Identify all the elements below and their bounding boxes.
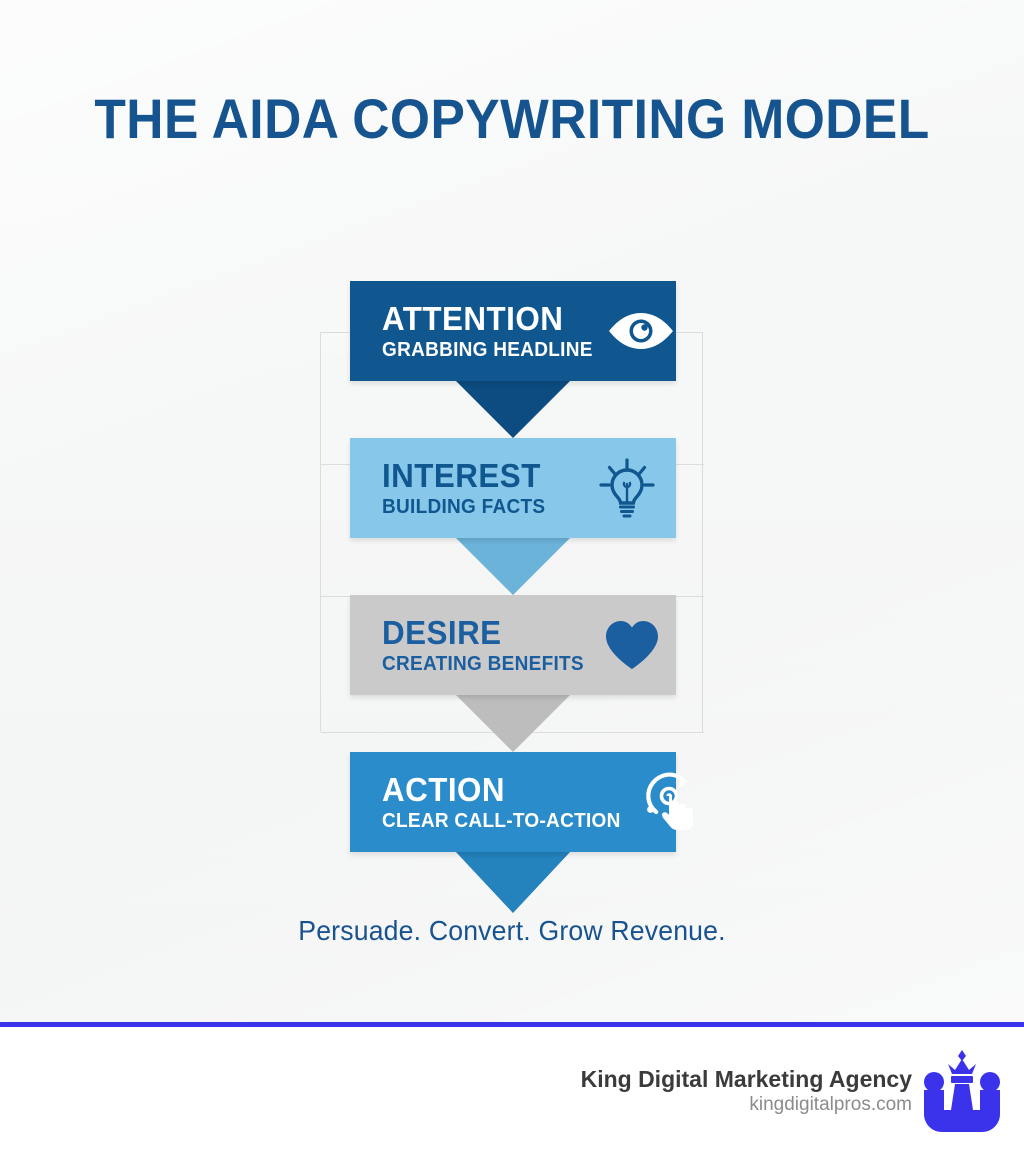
stage-banner[interactable]: ACTION CLEAR CALL-TO-ACTION (350, 752, 676, 852)
stage-title: INTEREST (382, 459, 545, 492)
funnel-stage-interest[interactable]: INTEREST BUILDING FACTS (350, 438, 676, 595)
funnel-stage-action[interactable]: ACTION CLEAR CALL-TO-ACTION (350, 752, 676, 913)
footer: King Digital Marketing Agency kingdigita… (0, 1027, 1024, 1154)
company-website[interactable]: kingdigitalpros.com (581, 1093, 912, 1117)
tagline: Persuade. Convert. Grow Revenue. (26, 915, 999, 947)
stage-labels: ACTION CLEAR CALL-TO-ACTION (382, 773, 633, 831)
stage-arrow (350, 851, 676, 913)
page-title: THE AIDA COPYWRITING MODEL (41, 88, 983, 150)
stage-subtitle: CLEAR CALL-TO-ACTION (382, 811, 621, 831)
stage-arrow (350, 694, 676, 752)
stage-banner[interactable]: ATTENTION GRABBING HEADLINE (350, 281, 676, 381)
stage-title: ATTENTION (382, 302, 593, 335)
stage-banner[interactable]: INTEREST BUILDING FACTS (350, 438, 676, 538)
lightbulb-icon (590, 451, 664, 525)
stage-arrow (350, 380, 676, 438)
stage-banner[interactable]: DESIRE CREATING BENEFITS (350, 595, 676, 695)
stage-labels: ATTENTION GRABBING HEADLINE (382, 302, 604, 360)
heart-icon (595, 608, 669, 682)
funnel-stage-desire[interactable]: DESIRE CREATING BENEFITS (350, 595, 676, 752)
stage-subtitle: GRABBING HEADLINE (382, 340, 593, 360)
arrow-tab (455, 537, 571, 595)
funnel-stage-attention[interactable]: ATTENTION GRABBING HEADLINE (350, 281, 676, 438)
chess-king-logo (922, 1048, 1002, 1134)
stage-title: ACTION (382, 773, 621, 806)
stage-labels: DESIRE CREATING BENEFITS (382, 616, 595, 674)
footer-text-block: King Digital Marketing Agency kingdigita… (581, 1065, 912, 1117)
company-name: King Digital Marketing Agency (581, 1065, 912, 1093)
arrow-tab (455, 851, 571, 913)
tap-gesture-icon (633, 765, 707, 839)
arrow-tab (455, 380, 571, 438)
aida-funnel: ATTENTION GRABBING HEADLINE (350, 281, 676, 913)
stage-title: DESIRE (382, 616, 584, 649)
stage-subtitle: CREATING BENEFITS (382, 654, 584, 674)
stage-subtitle: BUILDING FACTS (382, 497, 545, 517)
eye-icon (604, 294, 678, 368)
stage-labels: INTEREST BUILDING FACTS (382, 459, 554, 517)
stage-arrow (350, 537, 676, 595)
arrow-tab (455, 694, 571, 752)
infographic-poster: THE AIDA COPYWRITING MODEL ATTENTION GRA… (0, 0, 1024, 1154)
